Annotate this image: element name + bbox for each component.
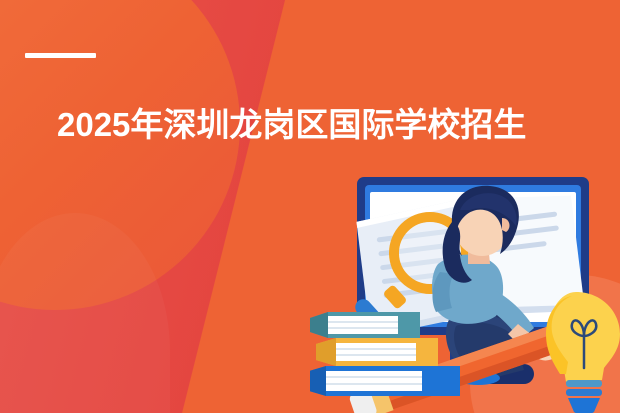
illustration-student-researching bbox=[310, 168, 620, 413]
title-rule-decoration bbox=[25, 53, 96, 58]
page-title: 2025年深圳龙岗区国际学校招生 bbox=[57, 105, 527, 145]
lightbulb-icon bbox=[546, 292, 620, 413]
promo-banner: 2025年深圳龙岗区国际学校招生 bbox=[0, 0, 620, 413]
